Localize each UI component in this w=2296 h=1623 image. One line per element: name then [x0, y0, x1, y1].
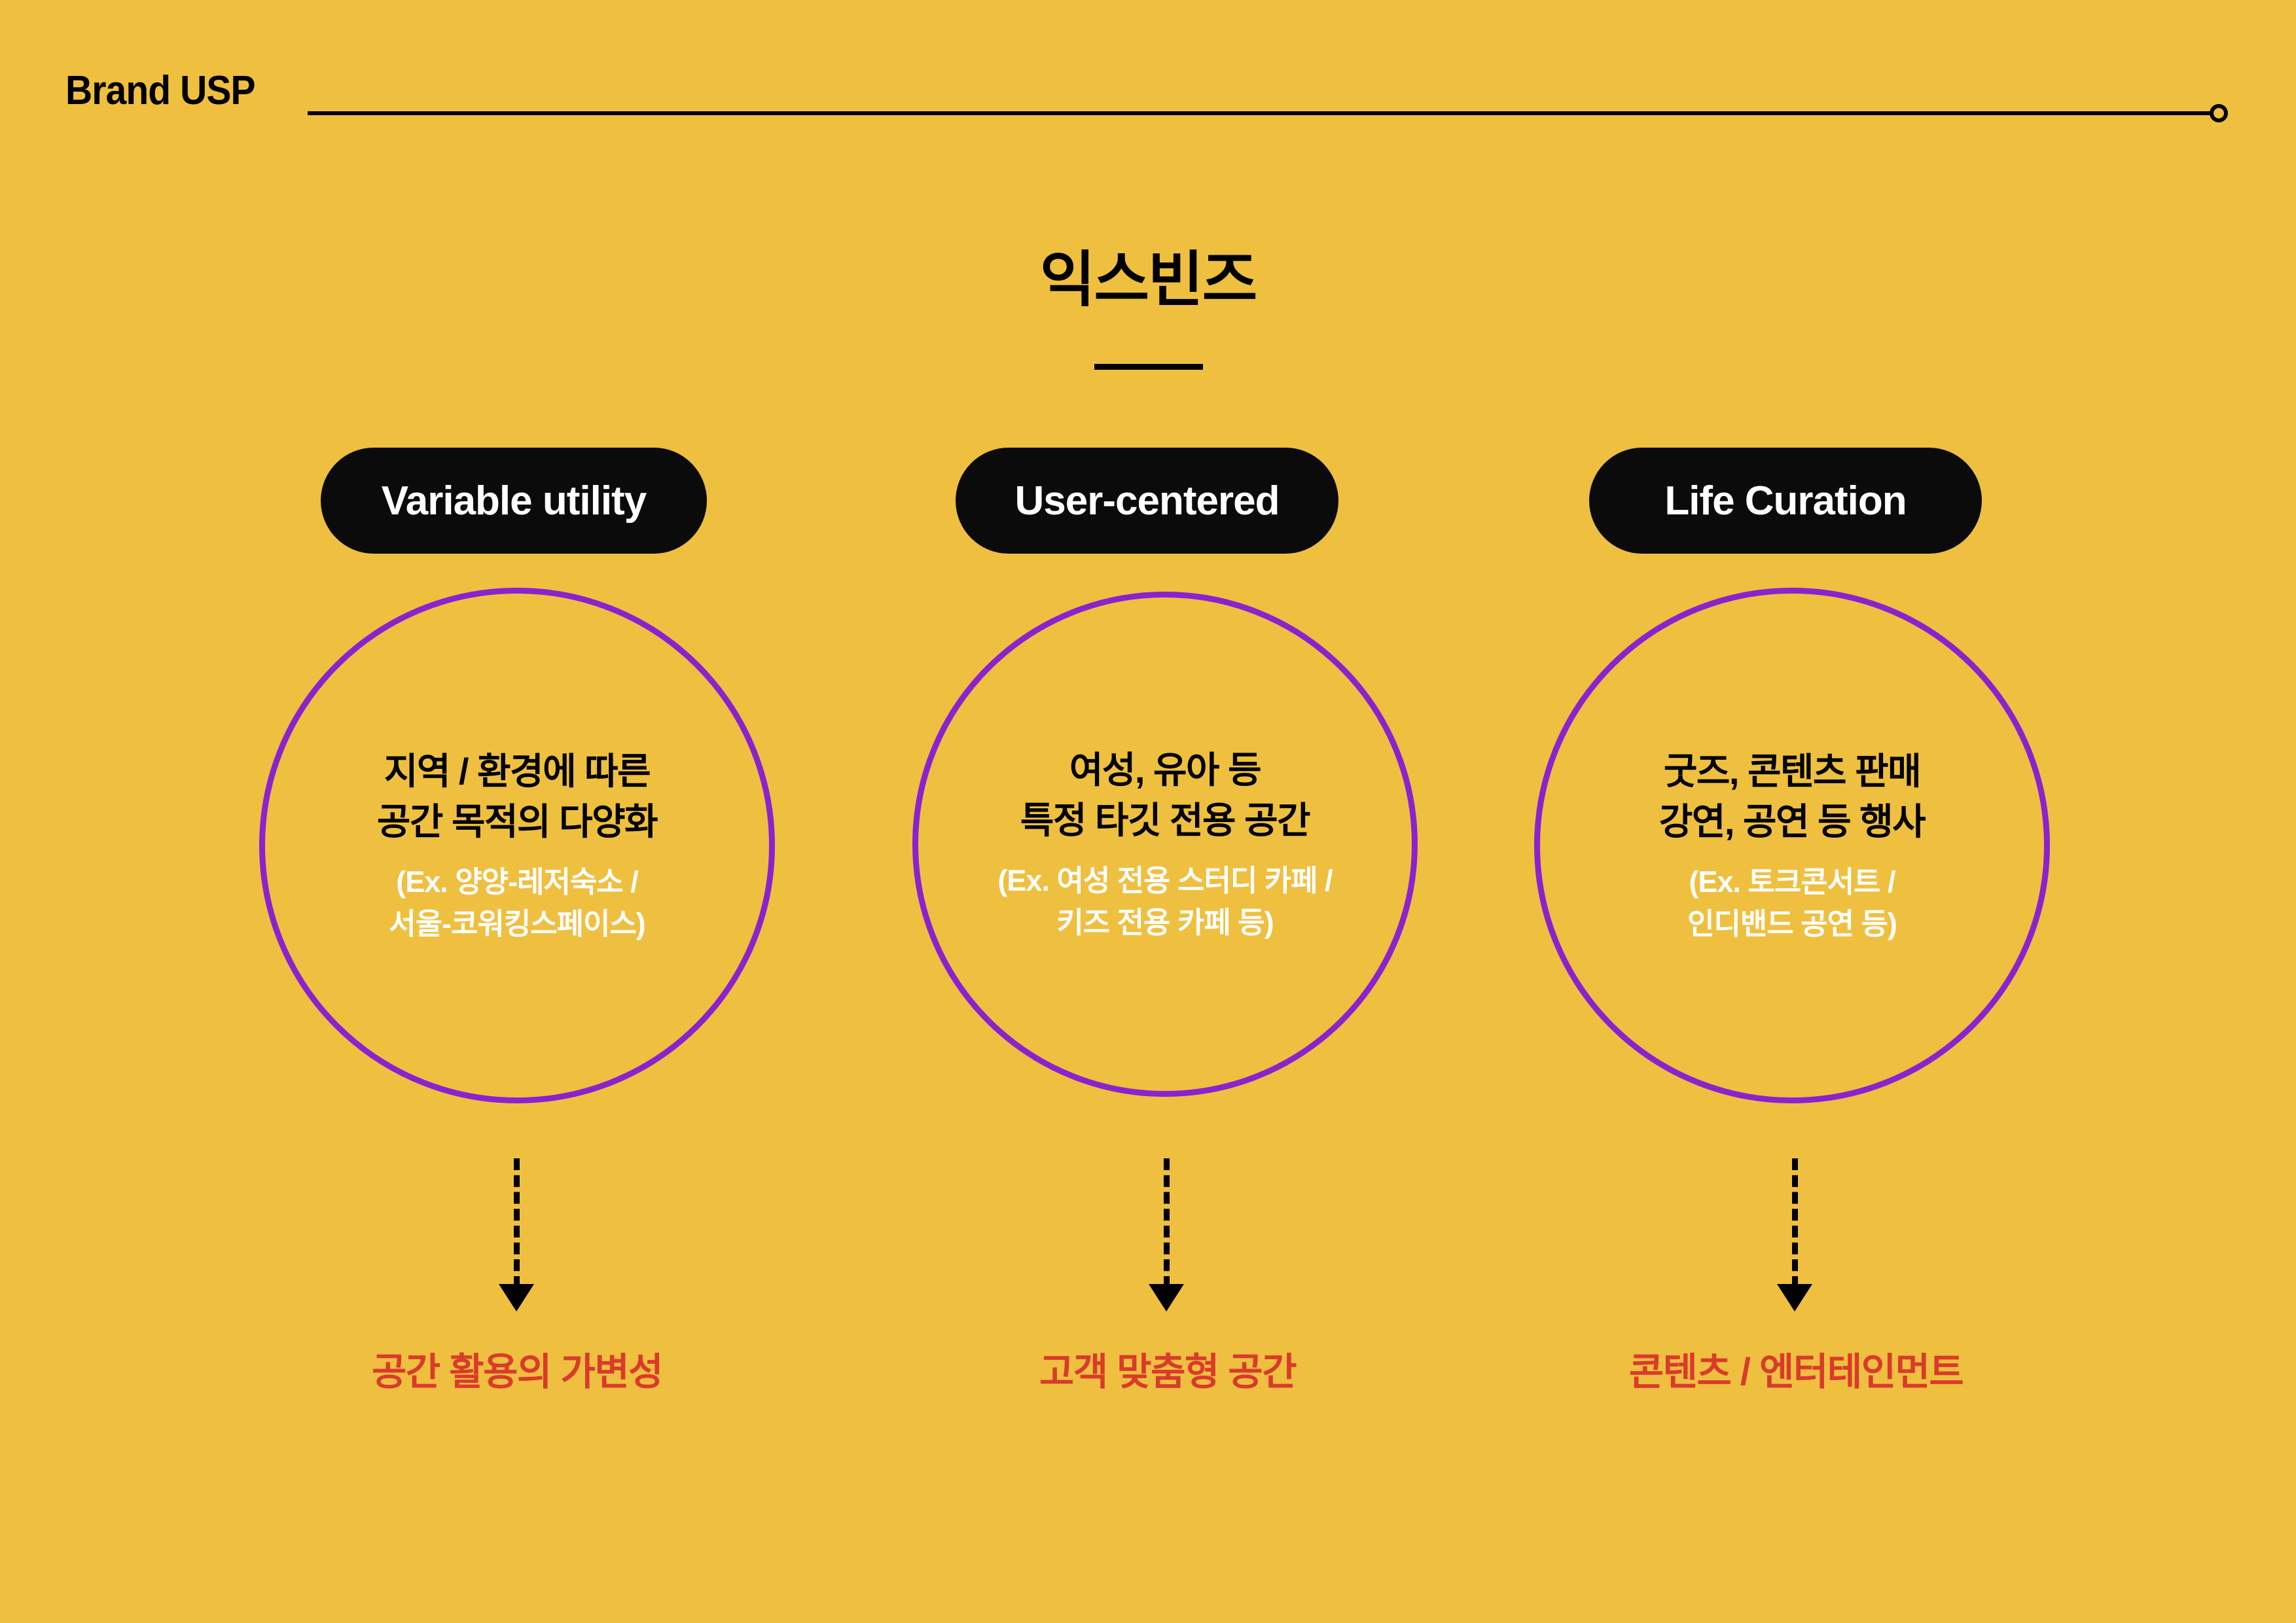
page-title: Brand USP	[65, 71, 255, 111]
usp-example-line: 서울-코워킹스페이스)	[288, 903, 746, 945]
usp-headline-line: 여성, 유아 등	[936, 745, 1394, 795]
dashed-line	[1792, 1158, 1798, 1288]
usp-badge-life-curation[interactable]: Life Curation	[1589, 448, 1982, 554]
usp-circle-life-curation: 굿즈, 콘텐츠 판매 강연, 공연 등 행사 (Ex. 토크콘서트 / 인디밴드…	[1534, 588, 2050, 1103]
usp-badge-label: Life Curation	[1664, 478, 1906, 524]
usp-headline-line: 지역 / 환경에 따른	[288, 746, 746, 796]
usp-circle-content: 지역 / 환경에 따른 공간 목적의 다양화 (Ex. 양양-레저숙소 / 서울…	[288, 746, 746, 945]
usp-headline-line: 강연, 공연 등 행사	[1563, 796, 2021, 847]
arrowhead-down-icon	[499, 1284, 534, 1311]
usp-badge-label: User-centered	[1015, 478, 1280, 524]
usp-example-line: (Ex. 여성 전용 스터디 카페 /	[936, 860, 1394, 902]
usp-example-block: (Ex. 여성 전용 스터디 카페 / 키즈 전용 카페 등)	[936, 860, 1394, 944]
dashed-arrow-connector	[1530, 1158, 2054, 1322]
usp-circle-user-centered: 여성, 유아 등 특정 타깃 전용 공간 (Ex. 여성 전용 스터디 카페 /…	[912, 592, 1418, 1097]
usp-badge-user-centered[interactable]: User-centered	[956, 448, 1338, 554]
usp-headline-line: 굿즈, 콘텐츠 판매	[1563, 746, 2021, 796]
usp-example-line: (Ex. 양양-레저숙소 /	[288, 861, 746, 903]
dashed-arrow-connector	[255, 1158, 779, 1322]
usp-headline-line: 공간 목적의 다양화	[288, 796, 746, 847]
usp-circle-variable-utility: 지역 / 환경에 따른 공간 목적의 다양화 (Ex. 양양-레저숙소 / 서울…	[259, 588, 775, 1103]
usp-example-block: (Ex. 토크콘서트 / 인디밴드 공연 등)	[1563, 861, 2021, 945]
usp-example-block: (Ex. 양양-레저숙소 / 서울-코워킹스페이스)	[288, 861, 746, 945]
usp-badge-label: Variable utility	[382, 478, 646, 524]
arrowhead-down-icon	[1777, 1284, 1812, 1311]
usp-example-line: 키즈 전용 카페 등)	[936, 902, 1394, 944]
usp-outcome-label: 공간 활용의 가변성	[255, 1349, 779, 1395]
usp-example-line: (Ex. 토크콘서트 /	[1563, 861, 2021, 903]
usp-column-life-curation: Life Curation 굿즈, 콘텐츠 판매 강연, 공연 등 행사 (Ex…	[1530, 0, 2054, 1623]
small-circle-endcap-icon	[2210, 104, 2228, 122]
usp-circle-content: 여성, 유아 등 특정 타깃 전용 공간 (Ex. 여성 전용 스터디 카페 /…	[936, 745, 1394, 944]
dashed-arrow-connector	[903, 1158, 1427, 1322]
usp-circle-content: 굿즈, 콘텐츠 판매 강연, 공연 등 행사 (Ex. 토크콘서트 / 인디밴드…	[1563, 746, 2021, 945]
usp-headline-line: 특정 타깃 전용 공간	[936, 795, 1394, 846]
usp-column-user-centered: User-centered 여성, 유아 등 특정 타깃 전용 공간 (Ex. …	[903, 0, 1427, 1623]
usp-outcome-label: 콘텐츠 / 엔터테인먼트	[1534, 1349, 2058, 1395]
dashed-line	[514, 1158, 520, 1288]
usp-badge-variable-utility[interactable]: Variable utility	[321, 448, 707, 554]
arrowhead-down-icon	[1149, 1284, 1184, 1311]
usp-outcome-label: 고객 맞춤형 공간	[906, 1349, 1429, 1395]
dashed-line	[1164, 1158, 1170, 1288]
usp-example-line: 인디밴드 공연 등)	[1563, 903, 2021, 945]
usp-column-variable-utility: Variable utility 지역 / 환경에 따른 공간 목적의 다양화 …	[255, 0, 779, 1623]
